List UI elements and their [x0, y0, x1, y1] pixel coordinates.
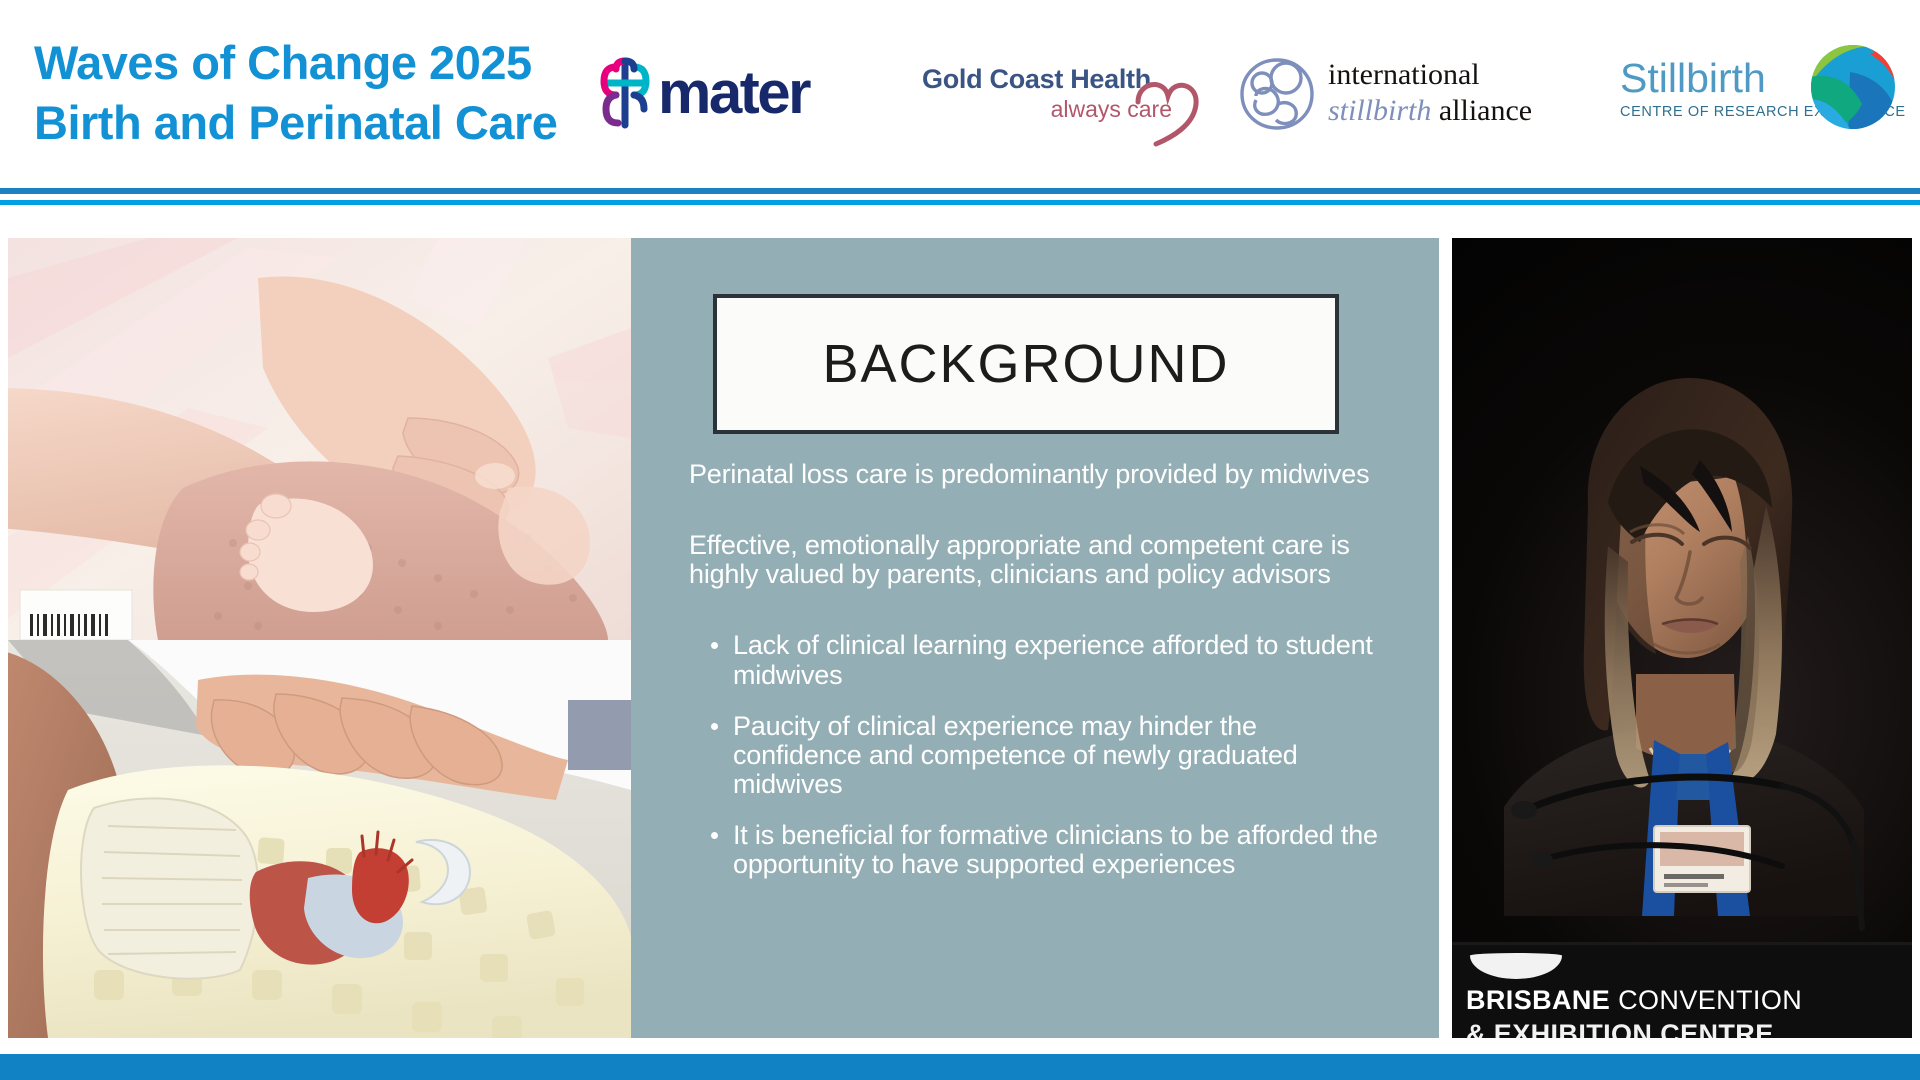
- mother-and-child-icon: [1236, 54, 1318, 132]
- photo-infant-graphic: [8, 640, 631, 1038]
- slide-bullet-item: Lack of clinical learning experience aff…: [689, 631, 1389, 689]
- slide-paragraph-1: Perinatal loss care is predominantly pro…: [689, 460, 1389, 489]
- event-title-line-2: Birth and Perinatal Care: [34, 93, 584, 153]
- slide-paragraph-2: Effective, emotionally appropriate and c…: [689, 531, 1389, 589]
- mater-logo: mater: [594, 53, 894, 133]
- slide-title: BACKGROUND: [822, 333, 1229, 395]
- international-stillbirth-alliance-logo: international stillbirth alliance: [1236, 54, 1566, 132]
- isa-line-2-italic: stillbirth: [1328, 94, 1431, 127]
- event-title-line-1: Waves of Change 2025: [34, 33, 584, 93]
- slide-bullet-text: Lack of clinical learning experience aff…: [733, 630, 1373, 689]
- mater-cross-icon: [594, 53, 656, 133]
- photo-infant-in-crocheted-blanket: [8, 640, 631, 1038]
- stillbirth-cre-logo: Stillbirth CENTRE OF RESEARCH EXCELLENCE: [1620, 38, 1920, 148]
- header-bar: Waves of Change 2025 Birth and Perinatal…: [0, 0, 1920, 186]
- microphone-stands: [1452, 238, 1912, 1038]
- podium-text-bold: BRISBANE: [1466, 985, 1610, 1015]
- bcec-swoosh-icon: [1470, 953, 1562, 979]
- bullet-dot-icon: [711, 832, 718, 839]
- sponsor-logo-strip: mater Gold Coast Health always care: [584, 0, 1920, 186]
- heart-outline-icon: [1130, 72, 1202, 148]
- slide-bullet-item: Paucity of clinical experience may hinde…: [689, 712, 1389, 799]
- gold-coast-health-logo: Gold Coast Health always care: [922, 64, 1202, 123]
- bullet-dot-icon: [711, 642, 718, 649]
- header-divider-line-top: [0, 188, 1920, 194]
- slide-body: Perinatal loss care is predominantly pro…: [689, 460, 1389, 902]
- isa-line-2: stillbirth alliance: [1328, 93, 1532, 129]
- photo-newborn-feet-in-hands: [8, 238, 631, 640]
- isa-line-2-rest: alliance: [1431, 94, 1532, 127]
- podium-text-line-2: & EXHIBITION CENTRE: [1466, 1019, 1774, 1038]
- slide-bullet-text: Paucity of clinical experience may hinde…: [733, 711, 1298, 799]
- footer-bar: [0, 1054, 1920, 1080]
- photo-newborn-feet-graphic: [8, 238, 631, 640]
- podium-text-line-1: BRISBANE CONVENTION: [1466, 985, 1802, 1016]
- podium-signage: BRISBANE CONVENTION & EXHIBITION CENTRE: [1452, 942, 1912, 1038]
- isa-line-1: international: [1328, 57, 1532, 93]
- header-divider-line-bottom: [0, 200, 1920, 205]
- slide-bullet-item: It is beneficial for formative clinician…: [689, 821, 1389, 879]
- speaker-video-panel[interactable]: BRISBANE CONVENTION & EXHIBITION CENTRE: [1452, 238, 1912, 1038]
- slide-bullet-text: It is beneficial for formative clinician…: [733, 820, 1378, 879]
- photo-column: [8, 238, 631, 1038]
- mater-wordmark: mater: [658, 63, 809, 123]
- slide-frame: Waves of Change 2025 Birth and Perinatal…: [0, 0, 1920, 1080]
- slide-content-panel: BACKGROUND Perinatal loss care is predom…: [631, 238, 1439, 1038]
- slide-title-box: BACKGROUND: [713, 294, 1339, 434]
- event-title: Waves of Change 2025 Birth and Perinatal…: [0, 33, 584, 152]
- isa-wordmark: international stillbirth alliance: [1328, 57, 1532, 129]
- bullet-dot-icon: [711, 723, 718, 730]
- slide-bullet-list: Lack of clinical learning experience aff…: [689, 631, 1389, 879]
- cre-colour-wheel-icon: [1810, 44, 1896, 130]
- podium-text-regular: CONVENTION: [1610, 985, 1802, 1015]
